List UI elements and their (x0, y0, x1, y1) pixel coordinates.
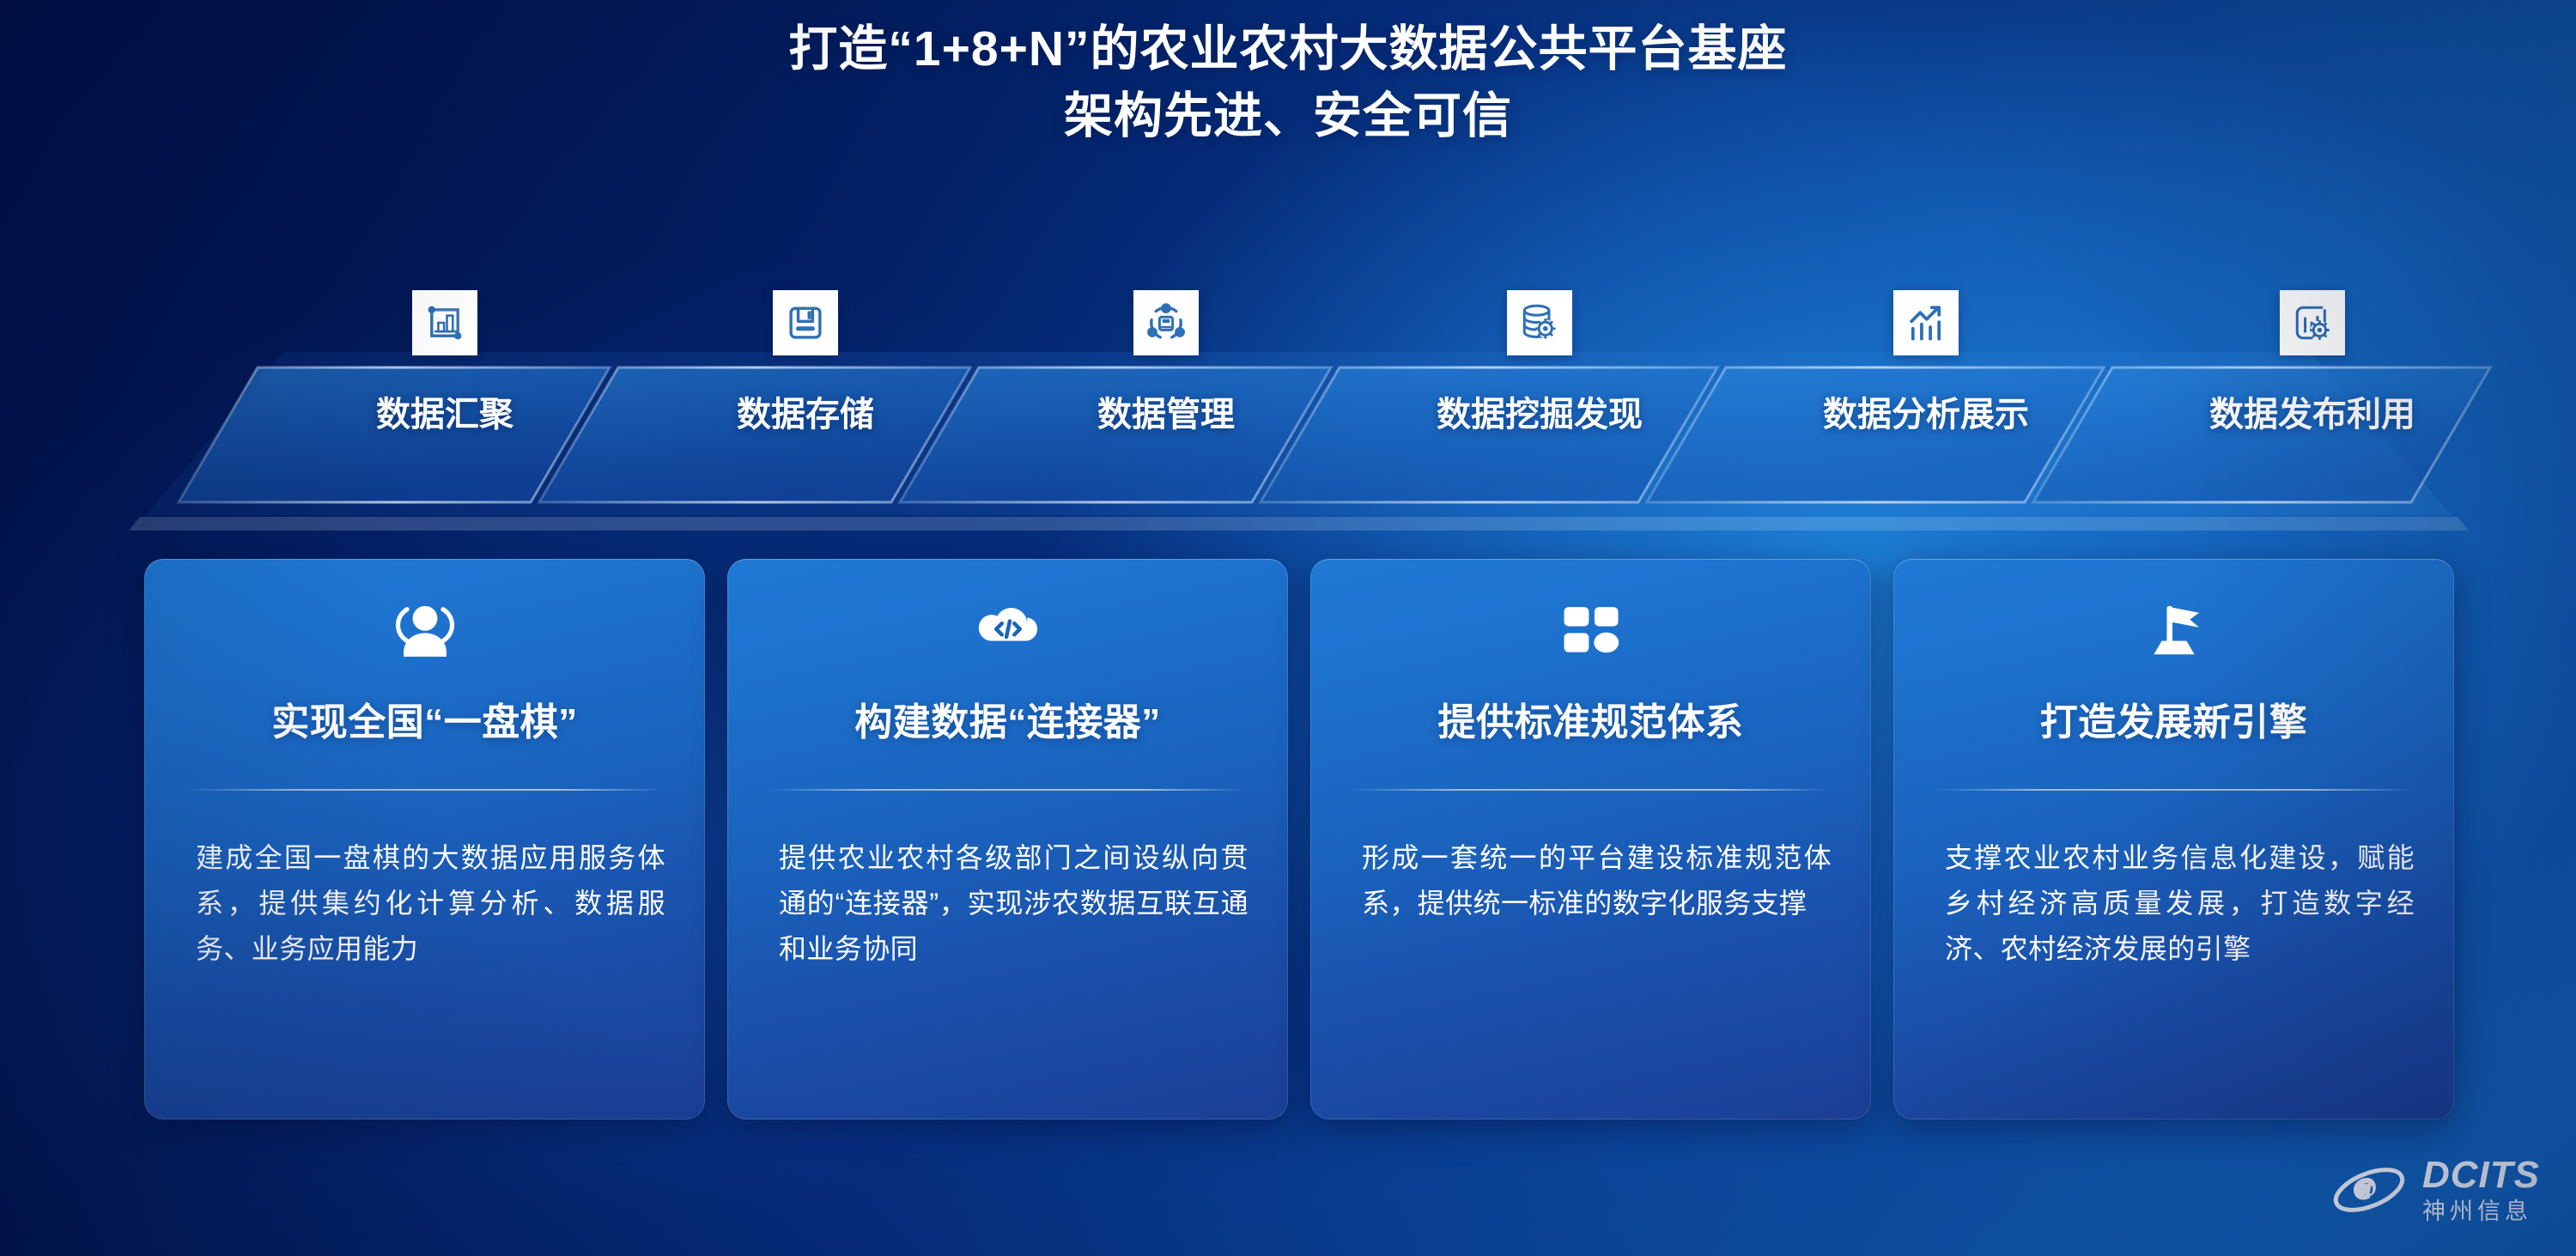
four-blocks-icon (1554, 595, 1628, 669)
feature-card-2-divider (767, 789, 1249, 791)
ribbon-step-6-label: 数据发布利用 (2209, 386, 2415, 436)
slide-canvas: 打造“1+8+N”的农业农村大数据公共平台基座 架构先进、安全可信 (0, 0, 2576, 1256)
chart-bracket-icon (412, 290, 477, 355)
feature-card-3-body: 形成一套统一的平台建设标准规范体系，提供统一标准的数字化服务支撑 (1362, 835, 1832, 926)
page-title: 打造“1+8+N”的农业农村大数据公共平台基座 架构先进、安全可信 (0, 15, 2576, 149)
brand-logo: DCITS 神州信息 (2330, 1156, 2540, 1223)
ribbon-step-3-label: 数据管理 (1097, 386, 1235, 436)
feature-card-3-divider (1350, 789, 1832, 791)
database-gear-icon (1507, 290, 1572, 355)
node-network-icon (1133, 290, 1199, 355)
feature-card-3-title: 提供标准规范体系 (1310, 699, 1871, 747)
feature-card-2-body: 提供农业农村各级部门之间设纵向贯通的“连接器”，实现涉农数据互联互通和业务协同 (779, 835, 1249, 972)
report-gear-icon (2280, 290, 2345, 355)
feature-card-4-divider (1933, 789, 2415, 791)
ribbon-step-1[interactable]: 数据汇聚 (290, 283, 599, 541)
ribbon-step-1-label: 数据汇聚 (376, 386, 513, 436)
feature-card-list: 实现全国“一盘棋” 建成全国一盘棋的大数据应用服务体系，提供集约化计算分析、数据… (144, 559, 2454, 1119)
feature-card-1-title: 实现全国“一盘棋” (144, 699, 705, 747)
ribbon-step-2[interactable]: 数据存储 (651, 283, 960, 541)
feature-card-1-divider (184, 789, 665, 791)
ribbon-step-5[interactable]: 数据分析展示 (1759, 283, 2093, 541)
cloud-code-icon (971, 595, 1045, 669)
feature-card-1-body: 建成全国一盘棋的大数据应用服务体系，提供集约化计算分析、数据服务、业务应用能力 (196, 835, 665, 972)
ribbon-step-4[interactable]: 数据挖掘发现 (1372, 283, 1707, 541)
ribbon-step-3[interactable]: 数据管理 (1012, 283, 1321, 541)
feature-card-4-body: 支撑农业农村业务信息化建设，赋能乡村经济高质量发展，打造数字经济、农村经济发展的… (1945, 835, 2415, 972)
trend-bar-chart-icon (1893, 290, 1959, 355)
title-line-1: 打造“1+8+N”的农业农村大数据公共平台基座 (0, 15, 2576, 82)
feature-card-4[interactable]: 打造发展新引擎 支撑农业农村业务信息化建设，赋能乡村经济高质量发展，打造数字经济… (1893, 559, 2454, 1119)
process-ribbon: 数据汇聚 数据存储 (0, 283, 2576, 541)
feature-card-4-title: 打造发展新引擎 (1893, 699, 2454, 747)
feature-card-2[interactable]: 构建数据“连接器” 提供农业农村各级部门之间设纵向贯通的“连接器”，实现涉农数据… (727, 559, 1288, 1119)
feature-card-1[interactable]: 实现全国“一盘棋” 建成全国一盘棋的大数据应用服务体系，提供集约化计算分析、数据… (144, 559, 705, 1119)
dcits-swoosh-icon (2330, 1160, 2409, 1220)
ribbon-step-2-label: 数据存储 (737, 386, 874, 436)
ribbon-step-4-label: 数据挖掘发现 (1437, 386, 1643, 436)
ribbon-step-5-label: 数据分析展示 (1823, 386, 2029, 436)
feature-card-2-title: 构建数据“连接器” (727, 699, 1288, 747)
floppy-disk-icon (773, 290, 838, 355)
brand-name-cn: 神州信息 (2422, 1200, 2540, 1223)
people-icon (388, 595, 462, 669)
ribbon-step-6[interactable]: 数据发布利用 (2145, 283, 2480, 541)
ribbon-step-labels: 数据汇聚 数据存储 (0, 283, 2576, 541)
brand-name-en: DCITS (2422, 1156, 2540, 1194)
brand-text: DCITS 神州信息 (2422, 1156, 2540, 1223)
feature-card-3[interactable]: 提供标准规范体系 形成一套统一的平台建设标准规范体系，提供统一标准的数字化服务支… (1310, 559, 1871, 1119)
flag-icon (2137, 595, 2211, 669)
title-line-2: 架构先进、安全可信 (0, 82, 2576, 149)
